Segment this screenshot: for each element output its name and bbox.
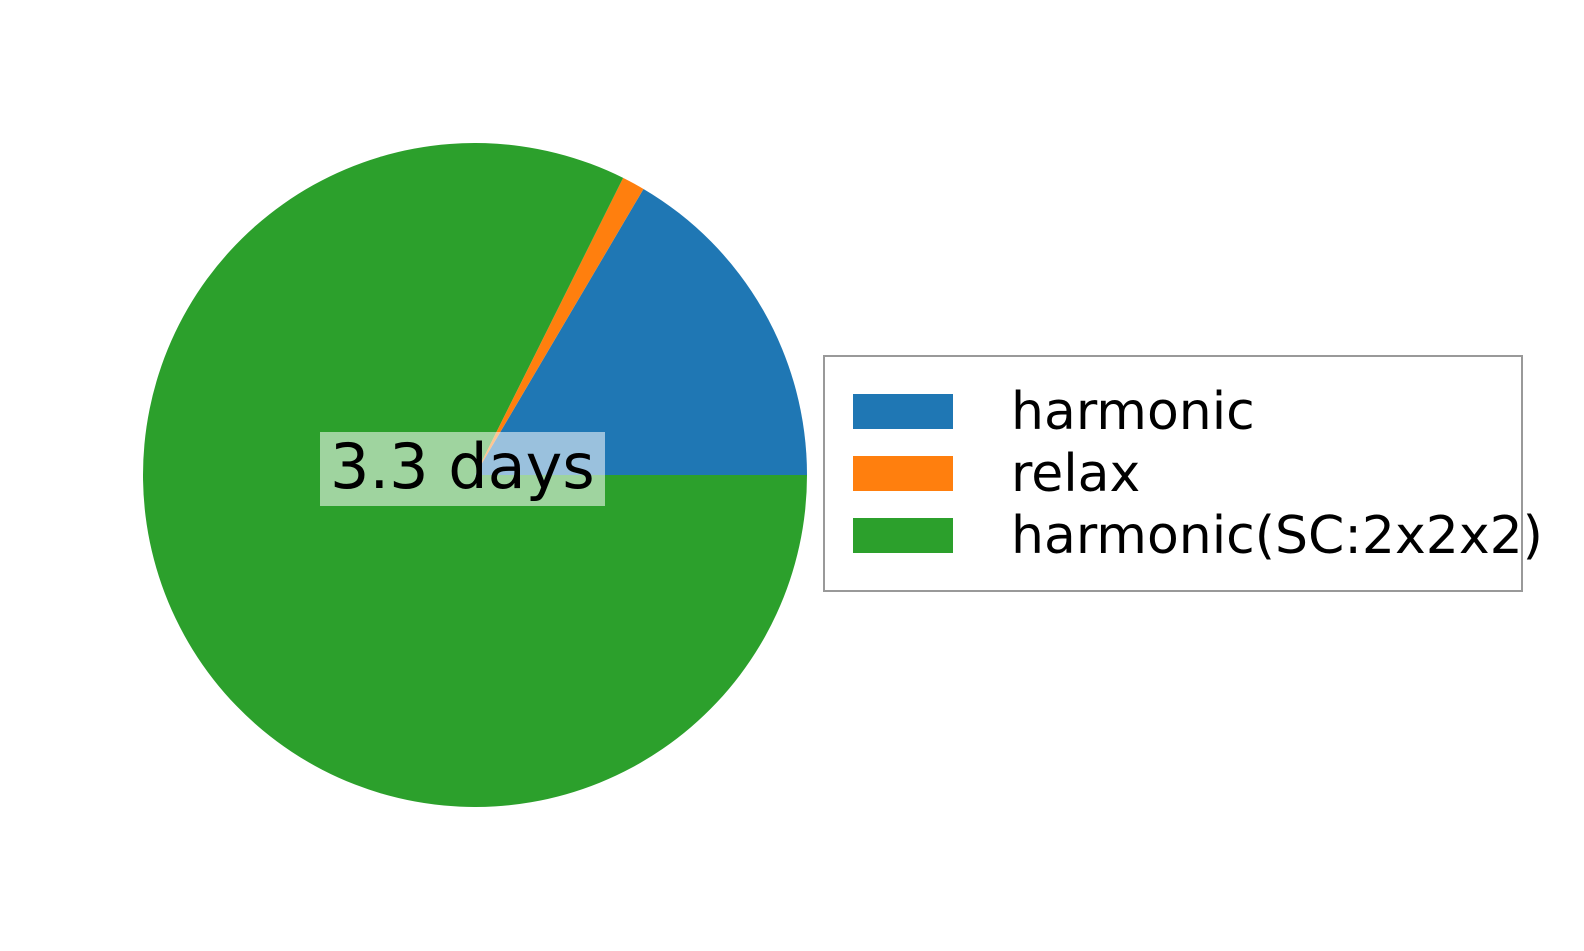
pie-chart-figure: 3.3 days harmonicrelaxharmonic(SC:2x2x2) (0, 0, 1584, 951)
legend-box: harmonicrelaxharmonic(SC:2x2x2) (823, 355, 1523, 592)
legend-swatch-icon (853, 456, 953, 491)
legend-label: relax (1011, 448, 1140, 500)
legend-swatch-icon (853, 394, 953, 429)
legend-label: harmonic(SC:2x2x2) (1011, 510, 1543, 562)
legend-label: harmonic (1011, 386, 1255, 438)
legend-items: harmonicrelaxharmonic(SC:2x2x2) (825, 357, 1521, 590)
legend-item[interactable]: harmonic(SC:2x2x2) (853, 513, 1521, 559)
center-annotation-label: 3.3 days (320, 432, 605, 506)
legend-item[interactable]: relax (853, 451, 1521, 497)
legend-item[interactable]: harmonic (853, 389, 1521, 435)
legend-swatch-icon (853, 518, 953, 553)
